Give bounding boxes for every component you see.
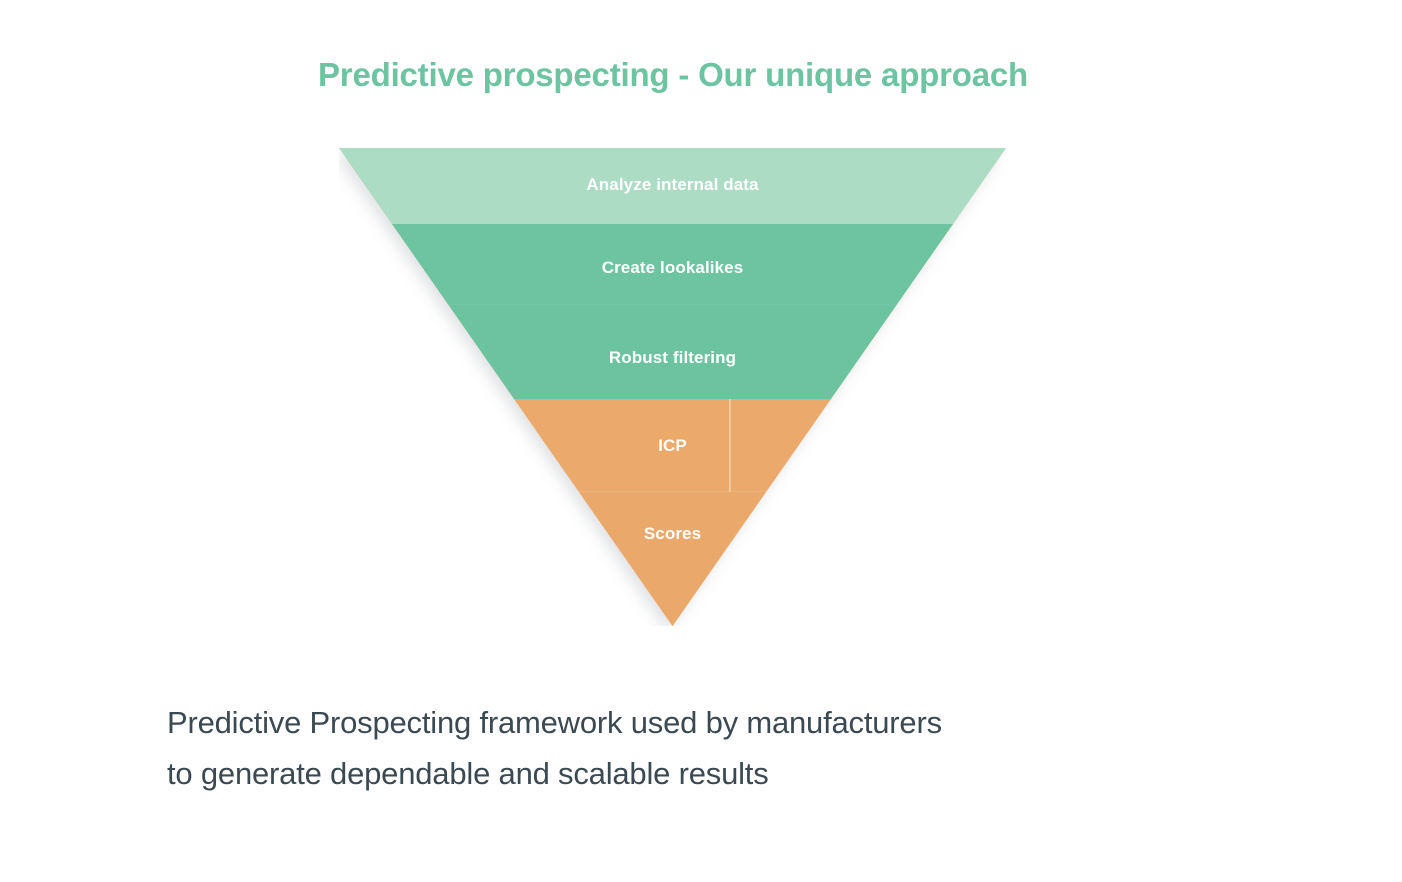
funnel-band-robust-filtering [339, 305, 1006, 399]
page-title: Predictive prospecting - Our unique appr… [0, 56, 1346, 94]
caption-line-2: to generate dependable and scalable resu… [167, 748, 1167, 799]
predictive-prospecting-funnel: Analyze internal data Create lookalikes … [339, 148, 1006, 626]
funnel-band-icp [339, 399, 1006, 492]
caption: Predictive Prospecting framework used by… [167, 697, 1167, 799]
funnel-band-analyze-internal-data [339, 148, 1006, 224]
funnel-band-scores [339, 492, 1006, 626]
funnel-bands [339, 148, 1006, 626]
funnel-shape [339, 148, 1006, 626]
funnel-band-create-lookalikes [339, 224, 1006, 305]
band-seam-orange [339, 491, 1006, 492]
icp-band-divider-line [729, 399, 731, 492]
caption-line-1: Predictive Prospecting framework used by… [167, 697, 1167, 748]
band-seam-green [339, 304, 1006, 305]
